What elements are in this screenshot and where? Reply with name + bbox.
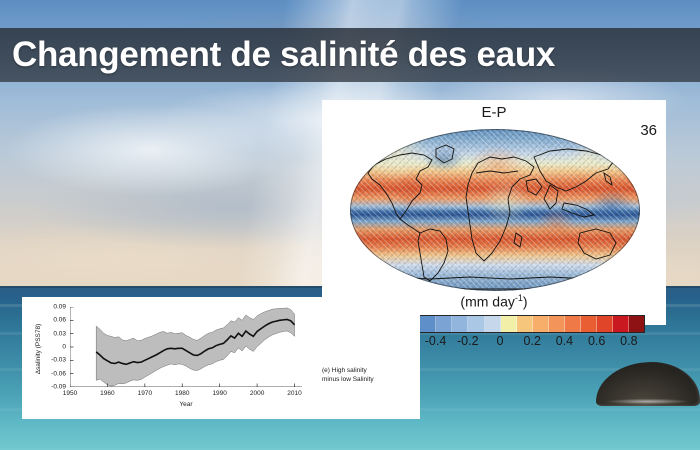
chart-plot-area: 0.090.060.030-0.03-0.06-0.09 19501960197… xyxy=(70,307,302,387)
chart-y-tick-label: 0.06 xyxy=(53,317,70,324)
world-map-field xyxy=(350,129,640,291)
chart-y-tick-label: -0.06 xyxy=(51,370,70,377)
colorbar-swatch xyxy=(452,316,468,332)
chart-x-tick-label: 2000 xyxy=(250,387,264,397)
page-title: Changement de salinité des eaux xyxy=(0,35,555,75)
colorbar-swatch xyxy=(533,316,549,332)
chart-canvas xyxy=(70,307,302,387)
chart-annotation-line-1: (e) High salinity xyxy=(322,366,374,375)
colorbar-tick-label: -0.4 xyxy=(425,334,447,348)
chart-x-tick-label: 1950 xyxy=(63,387,77,397)
chart-annotation: (e) High salinity minus low Salinity xyxy=(322,366,374,385)
chart-y-tick-label: 0.03 xyxy=(53,330,70,337)
colorbar-swatch xyxy=(436,316,452,332)
chart-x-tick-label: 1970 xyxy=(138,387,152,397)
chart-uncertainty-band xyxy=(96,308,294,386)
colorbar-units-prefix: (mm day xyxy=(460,294,514,310)
colorbar-tick-label: 0.8 xyxy=(620,334,637,348)
slide: Changement de salinité des eaux E-P 36 xyxy=(0,0,700,450)
map-panel-number: 36 xyxy=(640,122,657,139)
chart-x-tick-label: 1980 xyxy=(175,387,189,397)
chart-y-axis-label: Δsalinity (PSS78) xyxy=(35,309,47,389)
colorbar-tick-label: 0.6 xyxy=(588,334,605,348)
colorbar-swatch xyxy=(549,316,565,332)
island-foam xyxy=(590,398,700,405)
colorbar-swatch xyxy=(597,316,613,332)
colorbar-swatch xyxy=(468,316,484,332)
colorbar-swatch xyxy=(420,316,436,332)
salinity-timeseries-panel: Δsalinity (PSS78) 0.090.060.030-0.03-0.0… xyxy=(22,297,420,419)
colorbar-swatch xyxy=(629,316,644,332)
colorbar-swatch xyxy=(501,316,517,332)
chart-annotation-line-2: minus low Salinity xyxy=(322,375,374,384)
colorbar-swatch xyxy=(581,316,597,332)
colorbar-swatch xyxy=(565,316,581,332)
colorbar-tick-label: 0.4 xyxy=(556,334,573,348)
world-map xyxy=(350,129,640,291)
title-banner: Changement de salinité des eaux xyxy=(0,28,700,82)
chart-y-tick-label: 0.09 xyxy=(53,304,70,311)
colorbar-swatch xyxy=(517,316,533,332)
map-title: E-P xyxy=(322,104,666,121)
colorbar-units-exponent: -1 xyxy=(515,293,523,303)
colorbar-tick-label: 0 xyxy=(497,334,504,348)
map-figure-panel: E-P 36 xyxy=(322,100,666,325)
chart-y-tick-label: -0.03 xyxy=(51,357,70,364)
globe-outline xyxy=(350,129,640,291)
chart-x-axis-label: Year xyxy=(70,401,302,408)
chart-x-tick-label: 2010 xyxy=(287,387,301,397)
chart-x-tick-label: 1960 xyxy=(100,387,114,397)
chart-x-tick-label: 1990 xyxy=(212,387,226,397)
colorbar-tick-label: 0.2 xyxy=(524,334,541,348)
colorbar-units-suffix: ) xyxy=(523,294,528,310)
chart-y-tick-label: 0 xyxy=(62,344,70,351)
colorbar-swatch xyxy=(485,316,501,332)
colorbar-tick-label: -0.2 xyxy=(457,334,479,348)
colorbar-swatch xyxy=(613,316,629,332)
